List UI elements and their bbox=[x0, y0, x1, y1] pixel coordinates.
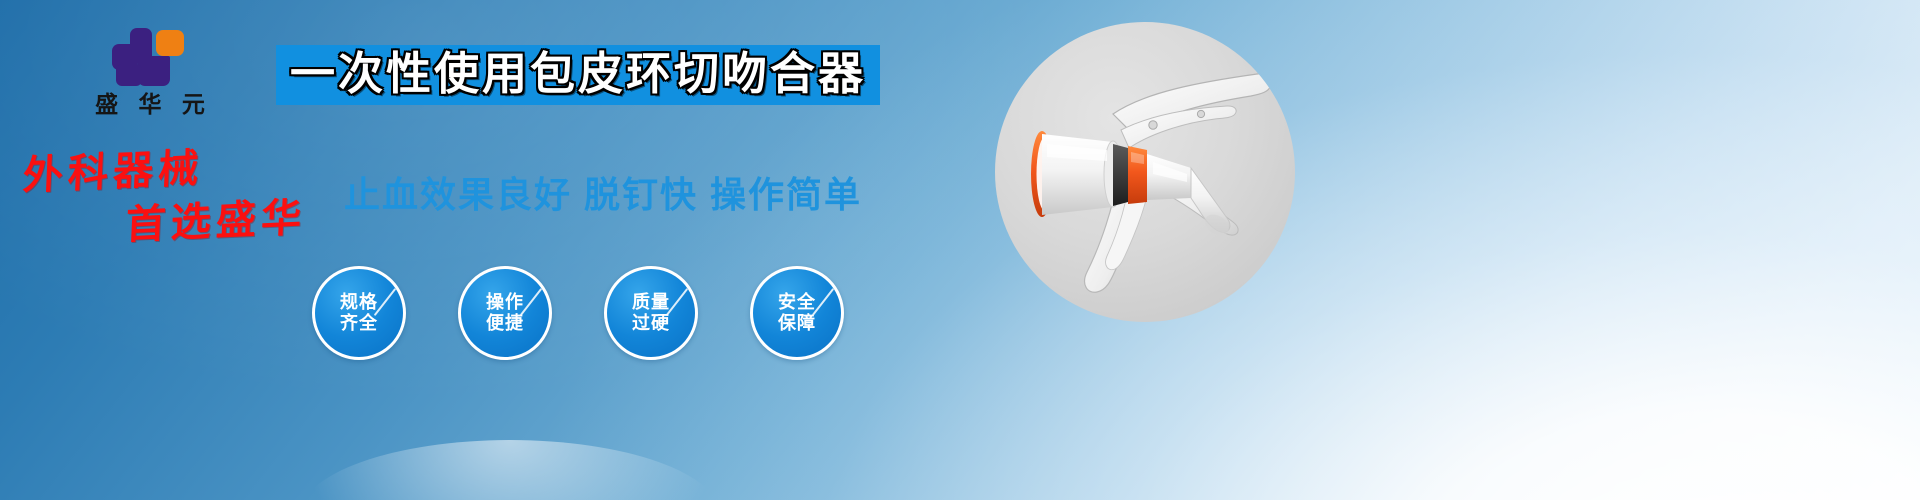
feature-badge-4[interactable]: 安全 保障 bbox=[750, 266, 844, 360]
badge-3-line-1: 质量 bbox=[632, 292, 670, 313]
product-title-bar: 一次性使用包皮环切吻合器 bbox=[276, 45, 880, 105]
slogan-line-1: 外科器械 bbox=[22, 144, 310, 196]
feature-badge-2[interactable]: 操作 便捷 bbox=[458, 266, 552, 360]
feature-badge-list: 规格 齐全 操作 便捷 质量 过硬 安全 保障 bbox=[312, 266, 844, 360]
badge-4-line-1: 安全 bbox=[778, 292, 816, 313]
bottom-arc-decoration bbox=[300, 440, 720, 500]
feature-badge-3[interactable]: 质量 过硬 bbox=[604, 266, 698, 360]
product-subtitle: 止血效果良好 脱钉快 操作简单 bbox=[344, 166, 862, 218]
promo-banner: 盛 华 元 一次性使用包皮环切吻合器 外科器械 首选盛华 止血效果良好 脱钉快 … bbox=[0, 0, 1920, 500]
logo-block-c bbox=[156, 30, 184, 56]
calligraphy-slogan: 外科器械 首选盛华 bbox=[20, 144, 310, 250]
badge-1-line-1: 规格 bbox=[340, 292, 378, 313]
brand-name: 盛 华 元 bbox=[70, 92, 230, 117]
product-image bbox=[995, 22, 1295, 322]
shenghuayuan-blocks-logo-icon bbox=[112, 28, 188, 86]
logo-block-e bbox=[116, 64, 142, 86]
badge-4-line-2: 保障 bbox=[778, 313, 816, 334]
brand-logo[interactable]: 盛 华 元 bbox=[70, 28, 230, 117]
badge-1-line-2: 齐全 bbox=[340, 313, 378, 334]
product-illustration-icon bbox=[995, 22, 1295, 322]
badge-2-line-2: 便捷 bbox=[486, 313, 524, 334]
badge-3-line-2: 过硬 bbox=[632, 313, 670, 334]
feature-badge-1[interactable]: 规格 齐全 bbox=[312, 266, 406, 360]
slogan-line-2: 首选盛华 bbox=[125, 198, 307, 246]
badge-2-line-1: 操作 bbox=[486, 292, 524, 313]
logo-block-d bbox=[138, 56, 170, 86]
page-title: 一次性使用包皮环切吻合器 bbox=[290, 51, 866, 96]
